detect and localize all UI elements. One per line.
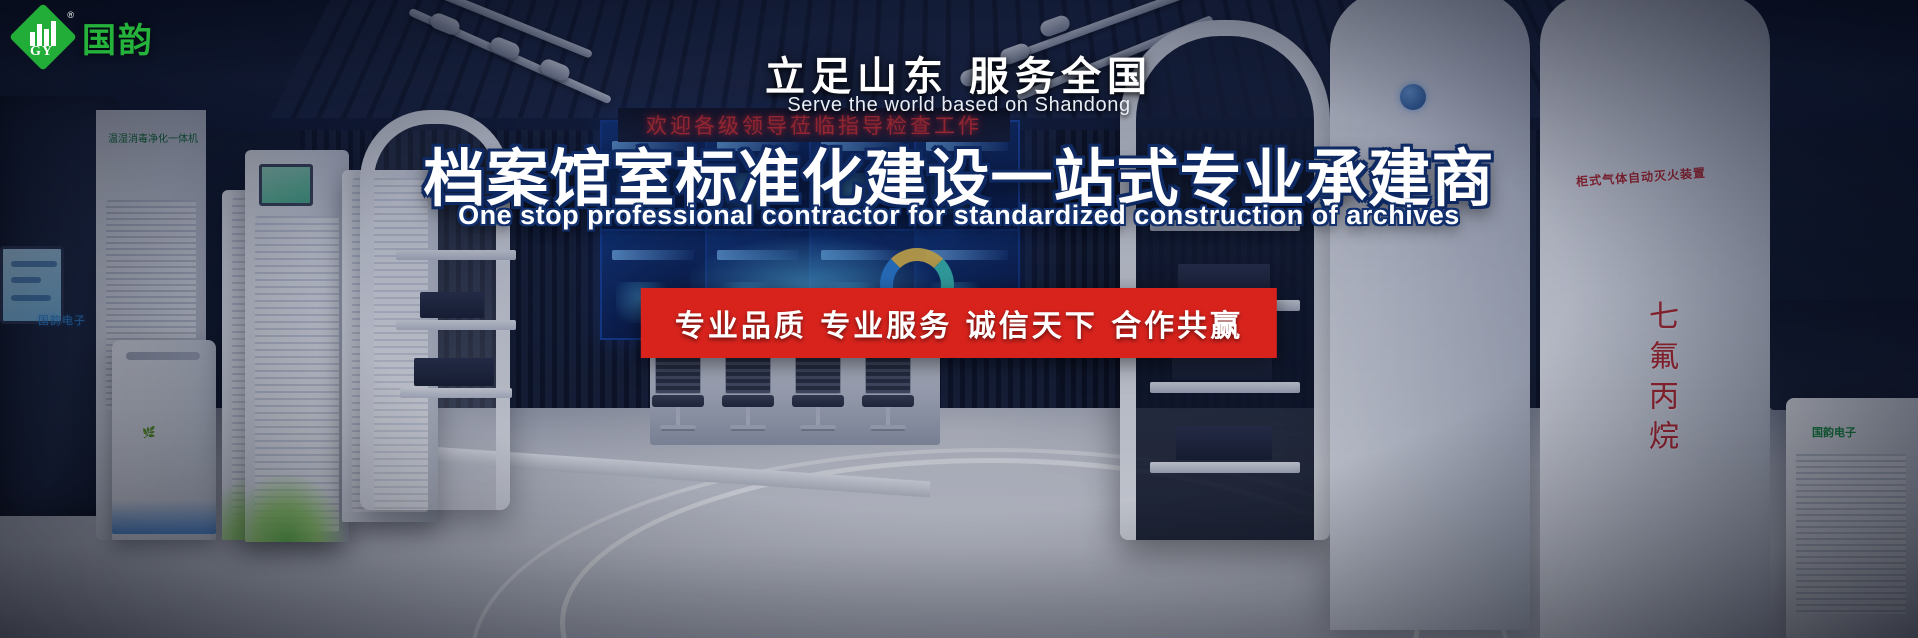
eco-leaf-icon: 🌿: [142, 426, 156, 439]
wall-shelf: [396, 320, 516, 330]
archive-cabinet: [245, 150, 349, 542]
gy-diamond-logo-icon: GY ®: [14, 8, 72, 66]
wall-shelf: [1150, 382, 1300, 393]
chair-base: [800, 425, 836, 429]
hero-banner: 欢迎各级领导莅临指导检查工作: [0, 0, 1918, 638]
unit-vent: [1796, 454, 1906, 614]
brand-name: 国韵: [82, 13, 154, 62]
registered-trademark-icon: ®: [67, 10, 74, 20]
chair-seat: [792, 395, 844, 407]
cabinet-gauge-icon: [1400, 84, 1426, 110]
chair-stem: [746, 407, 750, 427]
left-unit-model-label: 温湿消毒净化一体机: [108, 130, 198, 145]
chair-stem: [816, 407, 820, 427]
slogan-banner-button[interactable]: 专业品质 专业服务 诚信天下 合作共赢: [641, 288, 1277, 358]
chair-seat: [652, 395, 704, 407]
purifier-handle: [126, 352, 200, 360]
wall-shelf: [1150, 220, 1300, 231]
wall-shelf: [400, 388, 512, 398]
office-chair: [652, 350, 704, 436]
wall-shelf: [396, 250, 516, 260]
logo-monogram: GY: [30, 44, 53, 60]
right-unit-top: [1770, 300, 1918, 410]
slogan-banner-label: 专业品质 专业服务 诚信天下 合作共赢: [675, 301, 1243, 345]
shelf-box: [1176, 426, 1272, 460]
office-chair: [722, 350, 774, 436]
office-chair: [792, 350, 844, 436]
shelf-box: [414, 358, 494, 386]
led-ticker-text: 欢迎各级领导莅临指导检查工作: [646, 110, 982, 140]
chair-seat: [862, 395, 914, 407]
fire-suppression-cabinet: [1330, 0, 1530, 630]
shelf-box: [420, 292, 484, 318]
left-unit-brand-label: 国韵电子: [38, 312, 86, 328]
office-chair: [862, 350, 914, 436]
purifier-graphic: [112, 500, 216, 534]
led-ticker-board: 欢迎各级领导莅临指导检查工作: [618, 108, 1010, 142]
chair-stem: [886, 407, 890, 427]
site-logo[interactable]: GY ® 国韵: [14, 8, 154, 66]
cabinet-control-screen: [259, 164, 313, 206]
chair-base: [730, 425, 766, 429]
chair-base: [660, 425, 696, 429]
cabinet-eco-graphic: [245, 472, 349, 542]
chair-stem: [676, 407, 680, 427]
right-unit-brand-label: 国韵电子: [1812, 424, 1856, 440]
chair-base: [870, 425, 906, 429]
chair-seat: [722, 395, 774, 407]
mobile-air-purifier: 🌿: [112, 340, 216, 540]
logo-building-icon: [30, 21, 56, 46]
wall-shelf: [1150, 462, 1300, 473]
fire-agent-vertical-label: 七氟丙烷: [1638, 300, 1682, 460]
